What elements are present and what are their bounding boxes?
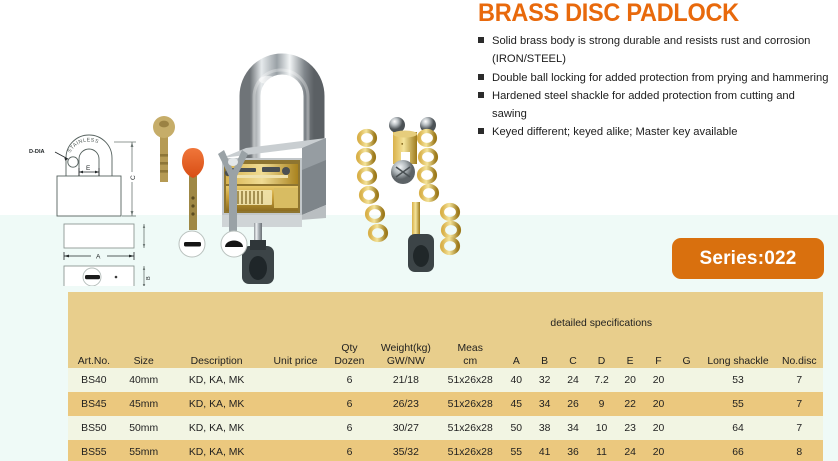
- feature-item: Hardened steel shackle for added protect…: [478, 87, 830, 124]
- bullet-square-icon: [478, 74, 484, 80]
- bullet-square-icon: [478, 92, 484, 98]
- dimension-label-d-dia: D-DIA: [29, 149, 45, 155]
- cell-spec-b: 41: [530, 440, 558, 461]
- cell-spec-f: 20: [644, 416, 672, 440]
- cell-description: KD, KA, MK: [168, 416, 266, 440]
- dimension-label-e: E: [86, 165, 90, 172]
- th-art-no: Art.No.: [68, 292, 120, 368]
- cell-spec-d: 9: [587, 392, 616, 416]
- bullet-square-icon: [478, 128, 484, 134]
- th-spec-c: C: [559, 330, 587, 368]
- th-long-shackle: Long shackle: [700, 292, 775, 368]
- cell-spec-a: 45: [502, 392, 530, 416]
- cell-description: KD, KA, MK: [168, 440, 266, 461]
- cell-spec-g: [673, 368, 701, 392]
- feature-text: Solid brass body is strong durable and r…: [492, 35, 810, 65]
- bullet-square-icon: [478, 37, 484, 43]
- th-meas-line1: Meas: [438, 342, 502, 355]
- feature-text: Hardened steel shackle for added protect…: [492, 90, 795, 120]
- series-badge: Series:022: [672, 238, 824, 279]
- cell-spec-a: 50: [502, 416, 530, 440]
- th-spec-b: B: [530, 330, 558, 368]
- cell-spec-b: 32: [530, 368, 558, 392]
- cell-spec-b: 38: [530, 416, 558, 440]
- cell-weight: 30/27: [373, 416, 438, 440]
- cell-spec-g: [673, 440, 701, 461]
- cell-unit-price: [266, 368, 326, 392]
- cell-art-no: BS45: [68, 392, 120, 416]
- th-weight: Weight(kg) GW/NW: [373, 292, 438, 368]
- cell-no-disc: 8: [776, 440, 823, 461]
- page-title: BRASS DISC PADLOCK: [478, 0, 739, 27]
- table-row: BS40 40mm KD, KA, MK 6 21/18 51x26x28 40…: [68, 368, 823, 392]
- cell-no-disc: 7: [776, 392, 823, 416]
- cell-no-disc: 7: [776, 368, 823, 392]
- cell-spec-g: [673, 392, 701, 416]
- cell-spec-f: 20: [644, 392, 672, 416]
- cell-spec-a: 40: [502, 368, 530, 392]
- cell-size: 40mm: [120, 368, 168, 392]
- th-spec-a: A: [502, 330, 530, 368]
- cell-qty: 6: [325, 416, 373, 440]
- cell-spec-e: 20: [616, 368, 644, 392]
- table-row: BS50 50mm KD, KA, MK 6 30/27 51x26x28 50…: [68, 416, 823, 440]
- cell-spec-d: 11: [587, 440, 616, 461]
- th-size: Size: [120, 292, 168, 368]
- th-meas: Meas cm: [438, 292, 502, 368]
- cell-weight: 35/32: [373, 440, 438, 461]
- cell-description: KD, KA, MK: [168, 392, 266, 416]
- cell-art-no: BS55: [68, 440, 120, 461]
- cell-no-disc: 7: [776, 416, 823, 440]
- table-row: BS55 55mm KD, KA, MK 6 35/32 51x26x28 55…: [68, 440, 823, 461]
- th-spec-f: F: [644, 330, 672, 368]
- th-spec-g: G: [673, 330, 701, 368]
- exploded-parts-photo: ●: [355, 112, 485, 272]
- table-head: Art.No. Size Description Unit price Qty …: [68, 292, 823, 368]
- th-qty: Qty Dozen: [325, 292, 373, 368]
- th-detailed-specifications: detailed specifications: [502, 292, 700, 330]
- cell-long-shackle: 66: [700, 440, 775, 461]
- cell-spec-f: 20: [644, 368, 672, 392]
- catalog-page: STAINLESS D-DIA E C: [0, 0, 838, 461]
- cell-spec-d: 7.2: [587, 368, 616, 392]
- cell-unit-price: [266, 416, 326, 440]
- cell-spec-f: 20: [644, 440, 672, 461]
- cell-qty: 6: [325, 392, 373, 416]
- shackle-stainless-label: STAINLESS: [67, 137, 100, 154]
- cell-long-shackle: 55: [700, 392, 775, 416]
- cell-weight: 21/18: [373, 368, 438, 392]
- th-meas-line2: cm: [438, 355, 502, 368]
- feature-list: Solid brass body is strong durable and r…: [478, 32, 830, 142]
- cell-qty: 6: [325, 440, 373, 461]
- cell-long-shackle: 64: [700, 416, 775, 440]
- table-row: BS45 45mm KD, KA, MK 6 26/23 51x26x28 45…: [68, 392, 823, 416]
- cell-spec-c: 34: [559, 416, 587, 440]
- specifications-table: Art.No. Size Description Unit price Qty …: [68, 292, 823, 461]
- cell-size: 50mm: [120, 416, 168, 440]
- cell-spec-c: 26: [559, 392, 587, 416]
- cell-long-shackle: 53: [700, 368, 775, 392]
- th-description: Description: [168, 292, 266, 368]
- cell-spec-e: 22: [616, 392, 644, 416]
- feature-item: Double ball locking for added protection…: [478, 69, 830, 87]
- cell-spec-c: 36: [559, 440, 587, 461]
- cell-qty: 6: [325, 368, 373, 392]
- cell-size: 55mm: [120, 440, 168, 461]
- cell-art-no: BS40: [68, 368, 120, 392]
- feature-item: Keyed different; keyed alike; Master key…: [478, 123, 830, 141]
- cell-weight: 26/23: [373, 392, 438, 416]
- cell-art-no: BS50: [68, 416, 120, 440]
- cell-meas: 51x26x28: [438, 416, 502, 440]
- th-spec-e: E: [616, 330, 644, 368]
- cell-spec-e: 24: [616, 440, 644, 461]
- th-qty-line1: Qty: [325, 342, 373, 355]
- cell-spec-a: 55: [502, 440, 530, 461]
- table-group-header-row: Art.No. Size Description Unit price Qty …: [68, 292, 823, 330]
- cell-spec-e: 23: [616, 416, 644, 440]
- dimension-label-c: C: [130, 175, 137, 180]
- cell-unit-price: [266, 440, 326, 461]
- cell-unit-price: [266, 392, 326, 416]
- cell-size: 45mm: [120, 392, 168, 416]
- cell-meas: 51x26x28: [438, 368, 502, 392]
- table-body: BS40 40mm KD, KA, MK 6 21/18 51x26x28 40…: [68, 368, 823, 461]
- th-weight-line2: GW/NW: [373, 355, 438, 368]
- cell-description: KD, KA, MK: [168, 368, 266, 392]
- feature-text: Double ball locking for added protection…: [492, 72, 828, 84]
- th-weight-line1: Weight(kg): [373, 342, 438, 355]
- th-unit-price: Unit price: [266, 292, 326, 368]
- dimension-label-a: A: [96, 254, 101, 261]
- feature-text: Keyed different; keyed alike; Master key…: [492, 126, 737, 138]
- feature-item: Solid brass body is strong durable and r…: [478, 32, 830, 69]
- cell-meas: 51x26x28: [438, 440, 502, 461]
- cell-spec-b: 34: [530, 392, 558, 416]
- cell-meas: 51x26x28: [438, 392, 502, 416]
- th-qty-line2: Dozen: [325, 355, 373, 368]
- cell-spec-g: [673, 416, 701, 440]
- th-no-disc: No.disc: [776, 292, 823, 368]
- cell-spec-d: 10: [587, 416, 616, 440]
- th-spec-d: D: [587, 330, 616, 368]
- cell-spec-c: 24: [559, 368, 587, 392]
